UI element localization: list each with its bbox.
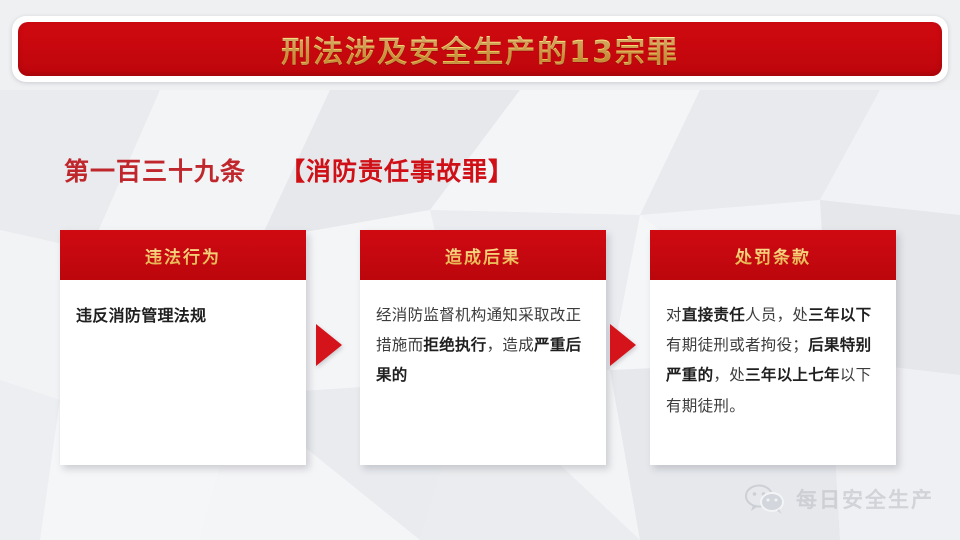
watermark: 每日安全生产 [744,484,934,514]
title-banner-inner: 刑法涉及安全生产的13宗罪 [18,22,942,76]
flow-arrow-right-icon [316,324,342,366]
article-number: 第一百三十九条 [64,152,246,188]
card-header-label: 造成后果 [445,243,521,268]
page-title: 刑法涉及安全生产的13宗罪 [281,27,679,71]
slide-canvas: 刑法涉及安全生产的13宗罪 第一百三十九条 【消防责任事故罪】 违法行为 违反消… [0,0,960,540]
card-header-illegal-behavior: 违法行为 [60,230,306,280]
crime-name: 【消防责任事故罪】 [280,152,514,188]
title-banner: 刑法涉及安全生产的13宗罪 [12,16,948,82]
card-penalty: 处罚条款 对直接责任人员，处三年以下有期徒刑或者拘役；后果特别严重的，处三年以上… [650,230,896,465]
article-subtitle: 第一百三十九条 【消防责任事故罪】 [64,152,514,188]
card-header-penalty: 处罚条款 [650,230,896,280]
card-header-label: 处罚条款 [735,243,811,268]
watermark-label: 每日安全生产 [796,484,934,514]
card-consequences: 造成后果 经消防监督机构通知采取改正措施而拒绝执行，造成严重后果的 [360,230,606,465]
card-illegal-behavior: 违法行为 违反消防管理法规 [60,230,306,465]
card-body-illegal-behavior: 违反消防管理法规 [60,280,306,341]
card-header-consequences: 造成后果 [360,230,606,280]
card-header-label: 违法行为 [145,243,221,268]
flow-arrow-right-icon [610,324,636,366]
card-body-penalty: 对直接责任人员，处三年以下有期徒刑或者拘役；后果特别严重的，处三年以上七年以下有… [650,280,896,431]
card-body-consequences: 经消防监督机构通知采取改正措施而拒绝执行，造成严重后果的 [360,280,606,401]
wechat-icon [744,484,786,514]
